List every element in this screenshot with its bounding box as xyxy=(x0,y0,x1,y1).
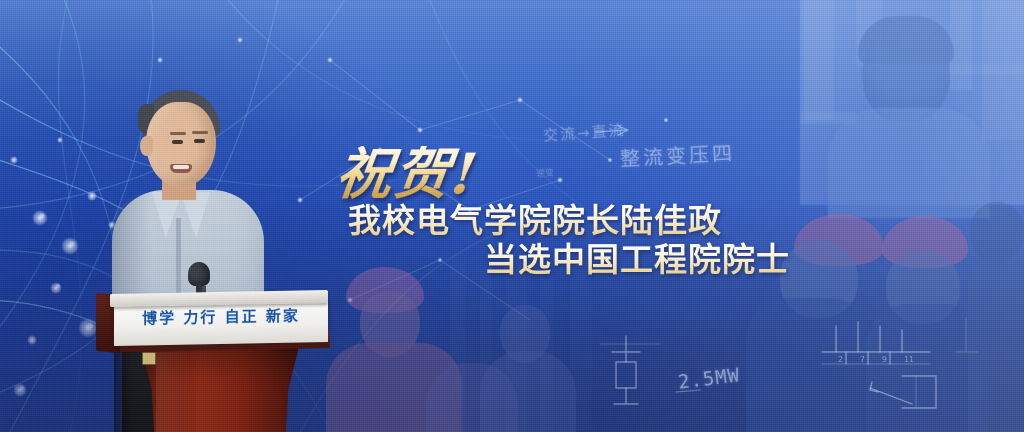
congratulation-banner: 2 7 9 11 交流→直流 整流变压四 逆变 2.5MW xyxy=(0,0,1024,432)
canvas-texture-overlay xyxy=(0,0,1024,432)
